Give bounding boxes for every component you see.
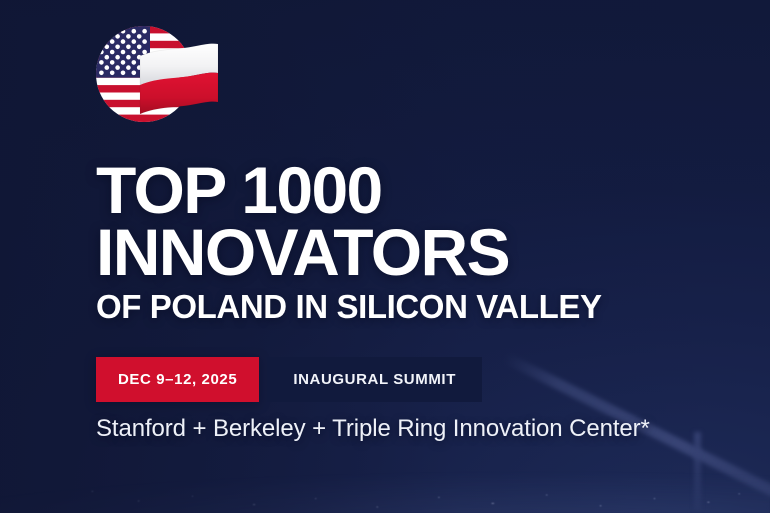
venue-line: Stanford + Berkeley + Triple Ring Innova… xyxy=(96,415,650,443)
usa-poland-flag-emblem xyxy=(96,26,220,124)
flag-emblem-icon xyxy=(96,26,220,124)
page-subtitle: OF POLAND IN SILICON VALLEY xyxy=(96,289,602,325)
date-badge: DEC 9–12, 2025 xyxy=(96,357,259,402)
summit-poster: TOP 1000 INNOVATORS OF POLAND IN SILICON… xyxy=(0,0,770,513)
summit-badge: INAUGURAL SUMMIT xyxy=(267,357,482,402)
page-title-line-1: TOP 1000 xyxy=(96,160,382,221)
poland-flag-wave xyxy=(140,44,218,114)
badge-row: DEC 9–12, 2025 INAUGURAL SUMMIT xyxy=(96,357,482,402)
page-title-line-2: INNOVATORS xyxy=(96,222,509,283)
